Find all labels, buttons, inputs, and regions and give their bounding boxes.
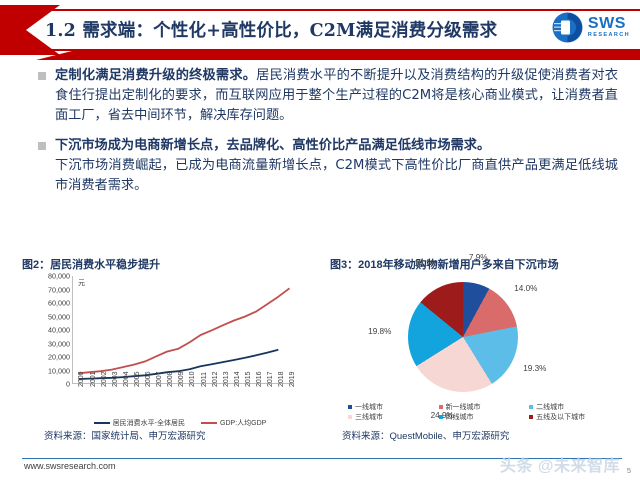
legend-item: 居民消费水平-全体居民 <box>94 418 185 428</box>
pie-chart: 7.9%14.0%19.3%24.9%19.8%14.1% 一线城市新一线城市二… <box>330 276 620 424</box>
legend-item: 四线城市 <box>439 412 530 422</box>
slide-body: 定制化满足消费升级的终极需求。居民消费水平的不断提升以及消费结构的升级促使消费者… <box>0 62 640 196</box>
x-axis-tick: 2001 <box>90 371 97 387</box>
bullet-lead-1: 定制化满足消费升级的终极需求。 <box>55 68 256 83</box>
pie-slice-label: 19.8% <box>368 327 391 336</box>
line-chart-plot <box>72 276 294 384</box>
legend-label: 居民消费水平-全体居民 <box>113 418 185 428</box>
legend-label: 新一线城市 <box>446 402 481 412</box>
x-axis-tick: 2003 <box>112 371 119 387</box>
slide-header: 1.2 需求端：个性化+高性价比，C2M满足消费分级需求 SWS RESEARC… <box>0 0 640 60</box>
x-axis-tick: 2018 <box>278 371 285 387</box>
x-axis-tick: 2007 <box>156 371 163 387</box>
legend-label: 一线城市 <box>355 402 383 412</box>
slide: 1.2 需求端：个性化+高性价比，C2M满足消费分级需求 SWS RESEARC… <box>0 0 640 480</box>
footer-url: www.swsresearch.com <box>24 461 116 471</box>
logo-wordmark: SWS <box>588 16 630 32</box>
x-axis-tick: 2011 <box>201 372 208 387</box>
chart-right-box: 7.9%14.0%19.3%24.9%19.8%14.1% 一线城市新一线城市二… <box>330 276 632 424</box>
legend-swatch-icon <box>348 415 352 419</box>
legend-swatch-icon <box>529 405 533 409</box>
chart-left-box: 元 010,00020,00030,00040,00050,00060,0007… <box>22 276 322 424</box>
pie-slice-label: 19.3% <box>523 364 546 373</box>
line-chart-y-axis: 010,00020,00030,00040,00050,00060,00070,… <box>22 276 70 384</box>
pie-slice-label: 7.9% <box>469 253 488 262</box>
x-axis-tick: 2009 <box>178 371 185 387</box>
x-axis-tick: 2019 <box>289 371 296 387</box>
page-number: 5 <box>627 466 631 475</box>
legend-swatch-icon <box>201 422 217 424</box>
line-series <box>79 288 290 373</box>
legend-item: 一线城市 <box>348 402 439 412</box>
legend-item: 二线城市 <box>529 402 620 412</box>
y-axis-tick: 30,000 <box>48 339 70 348</box>
x-axis-tick: 2004 <box>123 371 130 387</box>
legend-item: 新一线城市 <box>439 402 530 412</box>
x-axis-tick: 2010 <box>189 371 196 387</box>
bullet-square-icon <box>38 142 46 150</box>
pie-slice-label: 14.0% <box>514 284 537 293</box>
pie-chart-legend: 一线城市新一线城市二线城市三线城市四线城市五线及以下城市 <box>348 402 620 422</box>
sws-logo-icon <box>552 12 583 43</box>
x-axis-tick: 2015 <box>245 371 252 387</box>
y-axis-tick: 50,000 <box>48 312 70 321</box>
x-axis-tick: 2016 <box>256 371 263 387</box>
line-chart-x-axis: 2000200120022003200420052006200720082009… <box>72 386 294 416</box>
x-axis-tick: 2017 <box>267 371 274 387</box>
legend-swatch-icon <box>439 405 443 409</box>
source-right: 资料来源：QuestMobile、申万宏源研究 <box>342 428 509 442</box>
x-axis-tick: 2002 <box>101 371 108 387</box>
y-axis-tick: 10,000 <box>48 366 70 375</box>
y-axis-tick: 40,000 <box>48 326 70 335</box>
page-title: 1.2 需求端：个性化+高性价比，C2M满足消费分级需求 <box>45 17 497 42</box>
source-left: 资料来源：国家统计局、申万宏源研究 <box>44 428 334 442</box>
chart-left: 图2：居民消费水平稳步提升 元 010,00020,00030,00040,00… <box>22 256 322 424</box>
pie-slice-label: 14.1% <box>414 259 437 268</box>
legend-item: 五线及以下城市 <box>529 412 620 422</box>
bullet-text-2: 下沉市场成为电商新增长点，去品牌化、高性价比产品满足低线市场需求。下沉市场消费崛… <box>55 136 618 196</box>
y-axis-tick: 20,000 <box>48 353 70 362</box>
pie-chart-graphic <box>408 282 518 392</box>
legend-label: 二线城市 <box>536 402 564 412</box>
charts-area: 图2：居民消费水平稳步提升 元 010,00020,00030,00040,00… <box>0 256 640 424</box>
sources-row: 资料来源：国家统计局、申万宏源研究 资料来源：QuestMobile、申万宏源研… <box>0 428 640 442</box>
legend-label: 三线城市 <box>355 412 383 422</box>
line-chart: 元 010,00020,00030,00040,00050,00060,0007… <box>22 276 300 424</box>
logo-subtext: RESEARCH <box>588 33 630 39</box>
legend-swatch-icon <box>439 415 443 419</box>
y-axis-tick: 70,000 <box>48 285 70 294</box>
y-axis-tick: 60,000 <box>48 299 70 308</box>
bullet-item-2: 下沉市场成为电商新增长点，去品牌化、高性价比产品满足低线市场需求。下沉市场消费崛… <box>0 126 640 196</box>
x-axis-tick: 2013 <box>223 371 230 387</box>
x-axis-tick: 2008 <box>167 371 174 387</box>
chart-right: 图3：2018年移动购物新增用户多来自下沉市场 7.9%14.0%19.3%24… <box>330 256 632 424</box>
legend-swatch-icon <box>529 415 533 419</box>
bullet-item-1: 定制化满足消费升级的终极需求。居民消费水平的不断提升以及消费结构的升级促使消费者… <box>0 62 640 126</box>
header-red-underline <box>36 51 640 60</box>
x-axis-tick: 2014 <box>234 371 241 387</box>
legend-swatch-icon <box>94 422 110 424</box>
x-axis-tick: 2005 <box>134 371 141 387</box>
y-axis-tick: 0 <box>66 380 70 389</box>
chart-left-title: 图2：居民消费水平稳步提升 <box>22 256 322 272</box>
bullet-square-icon <box>38 72 46 80</box>
x-axis-tick: 2006 <box>145 371 152 387</box>
y-axis-tick: 80,000 <box>48 272 70 281</box>
legend-item: 三线城市 <box>348 412 439 422</box>
legend-swatch-icon <box>348 405 352 409</box>
x-axis-tick: 2000 <box>78 371 85 387</box>
bullet-text-1: 定制化满足消费升级的终极需求。居民消费水平的不断提升以及消费结构的升级促使消费者… <box>55 66 618 126</box>
legend-item: GDP:人均GDP <box>201 418 266 428</box>
bullet-lead-2: 下沉市场成为电商新增长点，去品牌化、高性价比产品满足低线市场需求。 <box>55 138 490 153</box>
x-axis-tick: 2012 <box>212 371 219 387</box>
legend-label: GDP:人均GDP <box>220 418 266 428</box>
watermark: 头条 @未来智库 <box>500 452 620 476</box>
legend-label: 五线及以下城市 <box>536 412 585 422</box>
sws-logo: SWS RESEARCH <box>552 12 630 43</box>
line-chart-legend: 居民消费水平-全体居民GDP:人均GDP <box>50 418 310 428</box>
bullet-rest-2: 下沉市场消费崛起，已成为电商流量新增长点，C2M模式下高性价比厂商直供产品更满足… <box>55 158 618 193</box>
legend-label: 四线城市 <box>446 412 474 422</box>
